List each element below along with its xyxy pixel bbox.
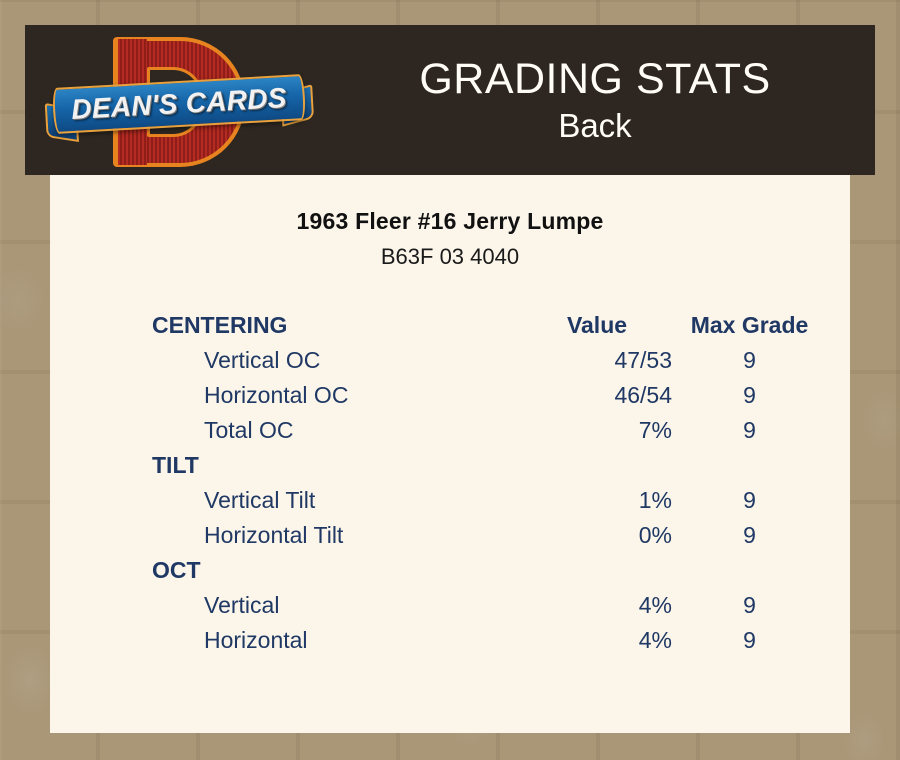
table-row: Vertical 4% 9 bbox=[152, 592, 852, 627]
table-row: Total OC 7% 9 bbox=[152, 417, 852, 452]
row-max-grade: 9 bbox=[672, 522, 827, 549]
row-label: Vertical OC bbox=[152, 347, 522, 374]
row-label: Horizontal Tilt bbox=[152, 522, 522, 549]
row-max-grade: 9 bbox=[672, 347, 827, 374]
page-title: GRADING STATS bbox=[419, 57, 770, 102]
table-row: Horizontal 4% 9 bbox=[152, 627, 852, 662]
table-row: Horizontal OC 46/54 9 bbox=[152, 382, 852, 417]
row-label: Vertical Tilt bbox=[152, 487, 522, 514]
section-header-tilt: TILT bbox=[152, 452, 852, 487]
row-max-grade: 9 bbox=[672, 382, 827, 409]
row-max-grade: 9 bbox=[672, 627, 827, 654]
card-info: 1963 Fleer #16 Jerry Lumpe B63F 03 4040 bbox=[50, 208, 850, 270]
header-bar: DEAN'S CARDS GRADING STATS Back bbox=[25, 25, 875, 175]
page-subtitle: Back bbox=[558, 109, 631, 144]
row-label: Total OC bbox=[152, 417, 522, 444]
row-max-grade: 9 bbox=[672, 592, 827, 619]
content-panel: 1963 Fleer #16 Jerry Lumpe B63F 03 4040 … bbox=[50, 100, 850, 733]
row-label: Vertical bbox=[152, 592, 522, 619]
table-header-row: CENTERING Value Max Grade bbox=[152, 312, 852, 347]
row-value: 46/54 bbox=[522, 382, 672, 409]
row-label: Horizontal bbox=[152, 627, 522, 654]
grading-stats-table: CENTERING Value Max Grade Vertical OC 47… bbox=[152, 312, 852, 662]
table-row: Horizontal Tilt 0% 9 bbox=[152, 522, 852, 557]
column-header-centering: CENTERING bbox=[152, 312, 522, 339]
section-heading: OCT bbox=[152, 557, 522, 584]
row-label: Horizontal OC bbox=[152, 382, 522, 409]
logo-ribbon-icon: DEAN'S CARDS bbox=[44, 70, 315, 139]
header-titles: GRADING STATS Back bbox=[315, 25, 875, 175]
column-header-max-grade: Max Grade bbox=[672, 312, 827, 339]
row-value: 7% bbox=[522, 417, 672, 444]
card-title: 1963 Fleer #16 Jerry Lumpe bbox=[50, 208, 850, 235]
table-row: Vertical Tilt 1% 9 bbox=[152, 487, 852, 522]
section-header-oct: OCT bbox=[152, 557, 852, 592]
row-value: 0% bbox=[522, 522, 672, 549]
column-header-value: Value bbox=[522, 312, 672, 339]
row-value: 4% bbox=[522, 627, 672, 654]
logo-wordmark: DEAN'S CARDS bbox=[52, 74, 306, 134]
row-max-grade: 9 bbox=[672, 417, 827, 444]
table-row: Vertical OC 47/53 9 bbox=[152, 347, 852, 382]
card-serial-number: B63F 03 4040 bbox=[50, 244, 850, 270]
section-heading: TILT bbox=[152, 452, 522, 479]
deans-cards-logo[interactable]: DEAN'S CARDS bbox=[45, 29, 315, 171]
row-value: 47/53 bbox=[522, 347, 672, 374]
row-max-grade: 9 bbox=[672, 487, 827, 514]
row-value: 4% bbox=[522, 592, 672, 619]
row-value: 1% bbox=[522, 487, 672, 514]
